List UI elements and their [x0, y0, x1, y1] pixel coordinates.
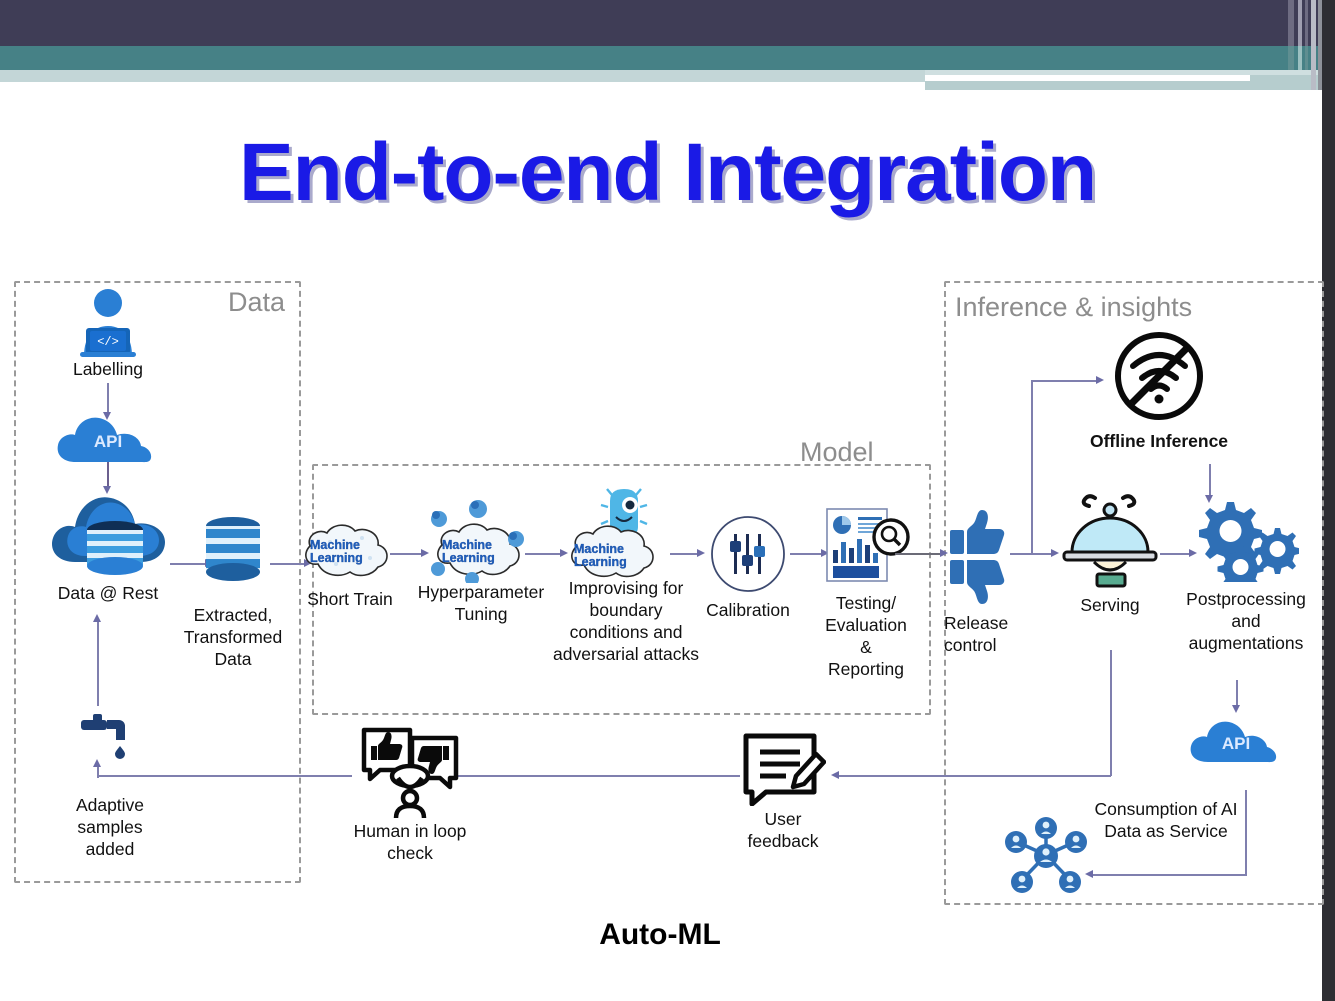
- node-label: Testing/ Evaluation & Reporting: [812, 592, 920, 680]
- band-vertical-teal-2: [1298, 46, 1302, 70]
- node-label: Data @ Rest: [32, 582, 184, 604]
- node-label: Release control: [940, 612, 1018, 656]
- node-label: Extracted, Transformed Data: [178, 604, 288, 670]
- arrow-labelling-to-api: [107, 383, 109, 415]
- report-magnifier-icon: [820, 506, 912, 586]
- arrow-testing-to-release: [895, 553, 943, 555]
- serving-tray-icon: [1059, 490, 1161, 588]
- node-label: Adaptive samples added: [62, 794, 158, 860]
- arrow-to-consumption: [1090, 874, 1247, 876]
- node-label: Hyperparameter Tuning: [412, 581, 550, 625]
- node-improvising[interactable]: MachineLearning Improvising for boundary…: [552, 487, 700, 665]
- node-labelling[interactable]: </> Labelling: [48, 288, 168, 380]
- band-vertical-teal-1: [1288, 46, 1294, 70]
- node-consumption-label: Consumption of AI Data as Service: [1082, 798, 1250, 842]
- arrow-head: [831, 771, 839, 779]
- node-short-train[interactable]: MachineLearning Short Train: [300, 520, 400, 610]
- arrow-offline-to-postprocessing: [1209, 464, 1211, 498]
- cloud-database-icon: [49, 484, 167, 576]
- person-coding-icon: </>: [70, 288, 146, 358]
- svg-text:</>: </>: [97, 335, 119, 349]
- arrow-serving-down-rail: [1110, 650, 1112, 776]
- feedback-note-pencil-icon: [740, 730, 826, 806]
- decorative-header-band: [0, 0, 1335, 90]
- arrow-userfeedback-to-human: [455, 775, 740, 777]
- node-release-control[interactable]: Release control: [940, 508, 1018, 656]
- arrow-head: [93, 759, 101, 767]
- node-data-at-rest[interactable]: Data @ Rest: [32, 484, 184, 604]
- database-icon: [202, 516, 264, 582]
- node-network-users[interactable]: [1000, 816, 1092, 894]
- band-vertical-stripe-4: [1311, 0, 1316, 90]
- node-label: User feedback: [735, 808, 831, 852]
- node-label: Short Train: [300, 588, 400, 610]
- ml-icon-text: MachineLearning: [442, 539, 495, 564]
- node-serving[interactable]: Serving: [1050, 490, 1170, 616]
- band-teal-stripe: [0, 46, 1322, 70]
- band-pale-stripe-1: [0, 70, 925, 82]
- wifi-off-icon: [1113, 330, 1205, 422]
- arrow-rail-to-userfeedback: [836, 775, 1111, 777]
- api-badge-label: API: [52, 432, 164, 452]
- arrow-head: [1232, 705, 1240, 713]
- node-user-feedback[interactable]: User feedback: [735, 730, 831, 852]
- faucet-drip-icon: [79, 712, 141, 764]
- node-api-top[interactable]: API: [52, 412, 164, 468]
- api-badge-label: API: [1186, 734, 1286, 754]
- node-label: Calibration: [700, 599, 796, 621]
- human-in-loop-icon: [358, 726, 462, 818]
- node-label: Improvising for boundary conditions and …: [552, 577, 700, 665]
- node-label: Postprocessing and augmentations: [1176, 588, 1316, 654]
- node-adaptive-samples[interactable]: Adaptive samples added: [62, 712, 158, 860]
- node-offline-inference[interactable]: Offline Inference: [1085, 330, 1233, 452]
- node-label: Human in loop check: [345, 820, 475, 864]
- node-testing-evaluation[interactable]: Testing/ Evaluation & Reporting: [812, 506, 920, 680]
- page-title: End-to-end Integration: [0, 126, 1335, 220]
- band-vertical-teal-3: [1305, 46, 1308, 70]
- node-label: Labelling: [48, 358, 168, 380]
- group-label-data: Data: [228, 287, 285, 318]
- arrow-human-to-adaptive: [97, 775, 352, 777]
- node-label: Consumption of AI Data as Service: [1082, 798, 1250, 842]
- group-label-inference: Inference & insights: [955, 292, 1192, 323]
- arrow-head: [93, 614, 101, 622]
- footer-label: Auto-ML: [0, 918, 1320, 952]
- node-api-bottom[interactable]: API: [1186, 716, 1286, 768]
- node-extracted-transformed-data[interactable]: Extracted, Transformed Data: [178, 516, 288, 670]
- node-label: Serving: [1050, 594, 1170, 616]
- group-label-model: Model: [800, 437, 874, 468]
- thumbs-up-down-icon: [946, 508, 1012, 604]
- ml-icon-text: MachineLearning: [310, 539, 363, 564]
- gears-icon: [1193, 500, 1299, 582]
- node-label: Offline Inference: [1085, 430, 1233, 452]
- node-postprocessing[interactable]: Postprocessing and augmentations: [1176, 500, 1316, 654]
- arrow-postprocessing-to-api: [1236, 680, 1238, 708]
- node-human-in-loop[interactable]: Human in loop check: [345, 726, 475, 864]
- node-calibration[interactable]: Calibration: [700, 515, 796, 621]
- sliders-circle-icon: [709, 515, 787, 593]
- network-users-icon: [1000, 816, 1092, 894]
- band-pale-stripe-3: [925, 81, 1265, 90]
- node-hyperparameter-tuning[interactable]: MachineLearning Hyperparameter Tuning: [412, 495, 550, 625]
- arrow-improv-to-calibration: [670, 553, 700, 555]
- ml-icon-text: MachineLearning: [574, 543, 627, 568]
- band-dark-stripe: [0, 0, 1322, 46]
- arrow-adaptive-to-rest: [97, 620, 99, 706]
- arrow-branch-riser: [1031, 380, 1033, 554]
